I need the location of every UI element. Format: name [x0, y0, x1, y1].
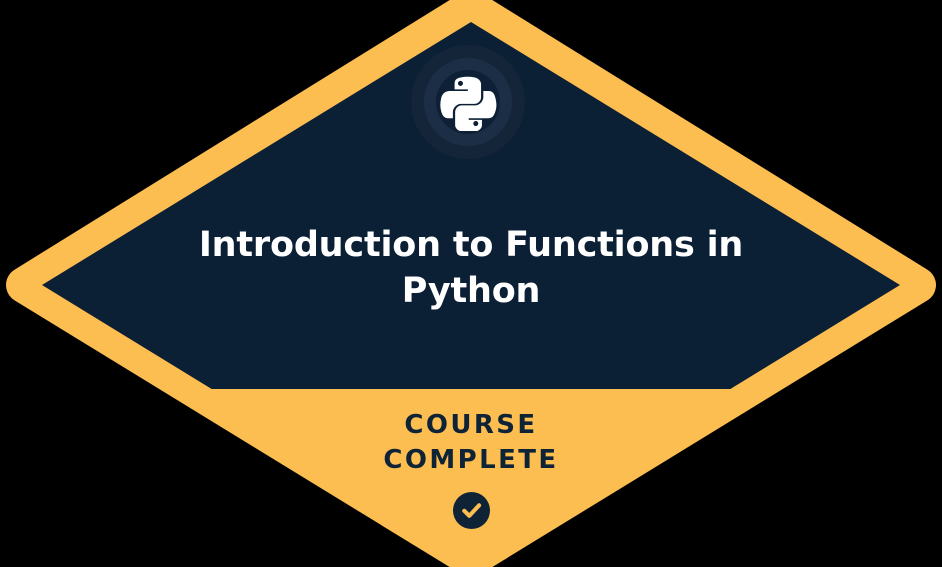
course-title: Introduction to Functions in Python: [171, 222, 771, 314]
status-label-line-1: COURSE: [271, 408, 671, 443]
status-label-line-2: COMPLETE: [271, 443, 671, 478]
python-emblem: [411, 45, 525, 159]
status-block: COURSE COMPLETE: [271, 408, 671, 529]
check-wrap: [271, 492, 671, 529]
course-completion-badge: Introduction to Functions in Python COUR…: [0, 0, 942, 567]
python-logo-icon: [439, 73, 497, 131]
check-circle-icon: [453, 492, 490, 529]
